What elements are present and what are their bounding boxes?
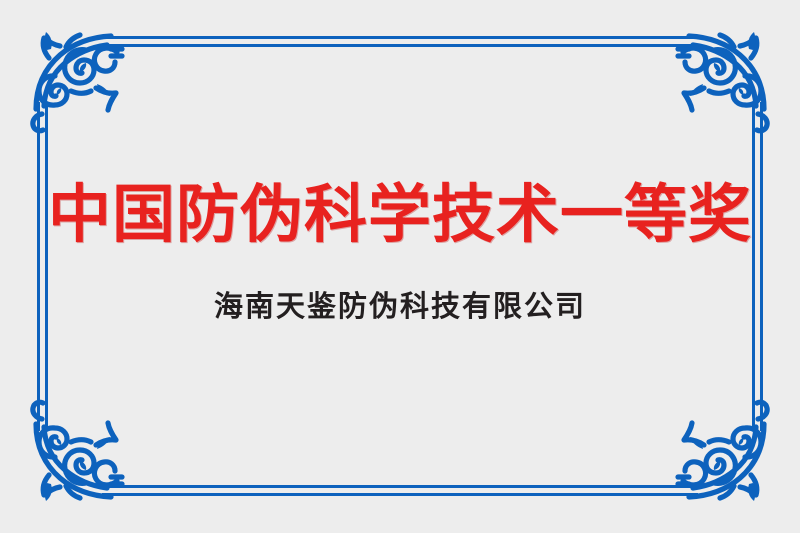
award-plaque: 中国防伪科学技术一等奖 海南天鉴防伪科技有限公司: [0, 0, 800, 533]
plaque-content: 中国防伪科学技术一等奖 海南天鉴防伪科技有限公司: [0, 0, 800, 533]
award-title: 中国防伪科学技术一等奖: [48, 183, 752, 246]
award-recipient: 海南天鉴防伪科技有限公司: [214, 292, 586, 321]
